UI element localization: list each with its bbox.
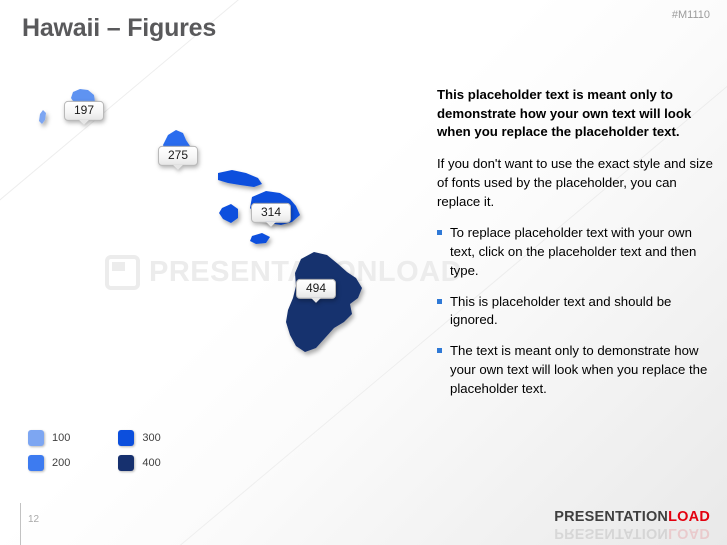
island-niihau[interactable] (39, 110, 46, 124)
lead-paragraph: This placeholder text is meant only to d… (437, 86, 715, 142)
legend-swatch-icon (28, 455, 44, 471)
bullet-item: The text is meant only to demonstrate ho… (437, 342, 715, 398)
legend-swatch-icon (118, 430, 134, 446)
map-marker-tip (79, 120, 89, 125)
bullet-item: This is placeholder text and should be i… (437, 293, 715, 330)
body-paragraph: If you don't want to use the exact style… (437, 155, 715, 211)
legend-item-400[interactable]: 400 (118, 455, 160, 471)
map-legend: 100 200 300 400 (28, 430, 161, 471)
map-marker-value: 197 (64, 101, 104, 121)
legend-swatch-icon (118, 455, 134, 471)
legend-item-100[interactable]: 100 (28, 430, 70, 446)
slide: Hawaii – Figures #M1110 PRESENTATIONLOAD (0, 0, 727, 545)
article-number: #M1110 (672, 9, 710, 21)
legend-item-200[interactable]: 200 (28, 455, 70, 471)
island-lanai[interactable] (219, 204, 238, 223)
map-marker-value: 275 (158, 146, 198, 166)
legend-swatch-icon (28, 430, 44, 446)
legend-label: 300 (142, 432, 160, 444)
text-panel[interactable]: This placeholder text is meant only to d… (437, 86, 715, 410)
bullet-text: To replace placeholder text with your ow… (450, 225, 696, 277)
map-marker-value: 314 (251, 203, 291, 223)
map-marker-big-island[interactable]: 494 (296, 279, 336, 303)
island-molokai[interactable] (218, 170, 262, 187)
hawaii-islands-map[interactable]: 197 275 314 494 (0, 60, 430, 420)
bullet-square-icon (437, 348, 442, 353)
legend-label: 100 (52, 432, 70, 444)
page-title: Hawaii – Figures (22, 14, 216, 43)
legend-label: 400 (142, 457, 160, 469)
map-marker-tip (173, 165, 183, 170)
brand-main-reflection: PRESENTATION (554, 525, 668, 541)
map-marker-oahu[interactable]: 275 (158, 146, 198, 170)
legend-item-300[interactable]: 300 (118, 430, 160, 446)
brand-main-text: PRESENTATION (554, 509, 668, 525)
page-number: 12 (28, 514, 39, 525)
brand-wordmark: PRESENTATIONLOAD (554, 509, 710, 525)
map-marker-value: 494 (296, 279, 336, 299)
map-marker-tip (311, 298, 321, 303)
island-kahoolawe[interactable] (250, 233, 270, 244)
brand-accent-reflection: LOAD (668, 525, 710, 541)
brand-wordmark-reflection: PRESENTATIONLOAD (554, 525, 710, 541)
brand-accent-text: LOAD (668, 509, 710, 525)
bullet-square-icon (437, 299, 442, 304)
bullet-square-icon (437, 230, 442, 235)
bullet-text: The text is meant only to demonstrate ho… (450, 343, 707, 395)
bullet-item: To replace placeholder text with your ow… (437, 224, 715, 280)
map-marker-tip (266, 222, 276, 227)
legend-label: 200 (52, 457, 70, 469)
bullet-text: This is placeholder text and should be i… (450, 294, 671, 328)
brand-logo: PRESENTATIONLOAD PRESENTATIONLOAD (554, 509, 710, 541)
footer-divider (20, 503, 21, 545)
map-marker-maui[interactable]: 314 (251, 203, 291, 227)
map-marker-kauai[interactable]: 197 (64, 101, 104, 125)
